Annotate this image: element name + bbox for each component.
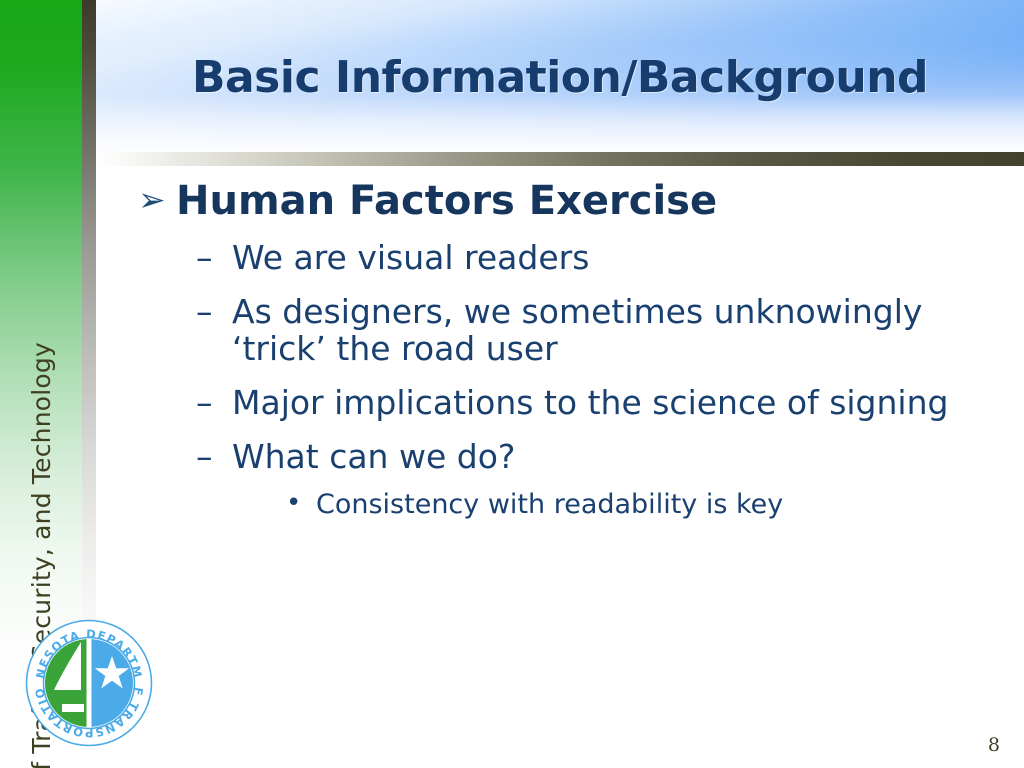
- bullet-level2: – Major implications to the science of s…: [196, 384, 1024, 422]
- bullet-level2: – As designers, we sometimes unknowingly…: [196, 293, 1024, 368]
- slide-content: ➢ Human Factors Exercise – We are visual…: [96, 166, 1024, 768]
- bullet-level2: – What can we do?: [196, 438, 1024, 476]
- header-divider-band: [96, 152, 1024, 166]
- bullet-text: Consistency with readability is key: [316, 489, 783, 520]
- dash-bullet-icon: –: [196, 438, 224, 476]
- sidebar-vertical-label: Office of Traffic, Security, and Technol…: [0, 0, 82, 620]
- bullet-level2: – We are visual readers: [196, 239, 1024, 277]
- arrow-bullet-icon: ➢: [138, 183, 168, 216]
- page-title: Basic Information/Background: [96, 52, 1024, 103]
- dash-bullet-icon: –: [196, 384, 224, 422]
- bullet-text: As designers, we sometimes unknowingly ‘…: [232, 292, 922, 369]
- dash-bullet-icon: –: [196, 239, 224, 277]
- dash-bullet-icon: –: [196, 293, 224, 331]
- page-number: 8: [988, 734, 1000, 756]
- bullet-level1: ➢ Human Factors Exercise: [138, 180, 1024, 223]
- bullet-level3: • Consistency with readability is key: [286, 489, 1024, 520]
- dot-bullet-icon: •: [286, 488, 310, 519]
- bullet-text: Major implications to the science of sig…: [232, 383, 948, 422]
- bullet-text: What can we do?: [232, 437, 515, 476]
- presentation-slide: Office of Traffic, Security, and Technol…: [0, 0, 1024, 768]
- bullet-text: We are visual readers: [232, 238, 589, 277]
- bullet-text: Human Factors Exercise: [176, 178, 717, 224]
